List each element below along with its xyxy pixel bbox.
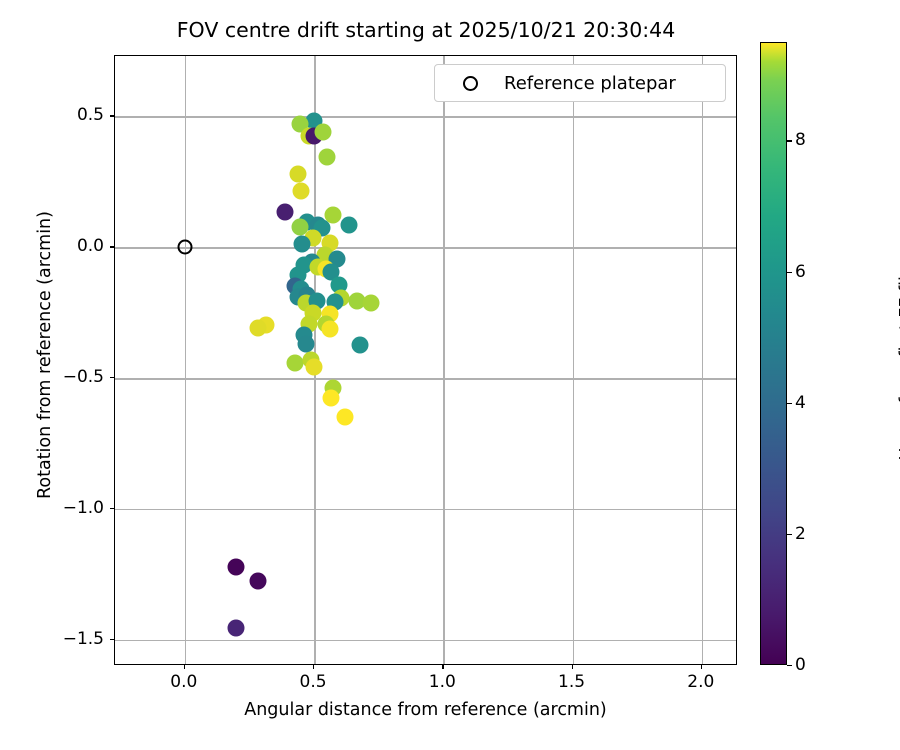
y-axis-tick-label: −1.5 — [63, 629, 104, 649]
y-axis-tick-label: −1.0 — [63, 498, 104, 518]
plot-axes — [114, 55, 737, 665]
scatter-point — [306, 359, 323, 376]
y-axis-tick — [110, 639, 114, 640]
y-axis-tick — [110, 246, 114, 247]
scatter-point — [227, 620, 244, 637]
colorbar-tick — [787, 665, 792, 666]
colorbar-tick — [787, 403, 792, 404]
colorbar-tick — [787, 272, 792, 273]
x-axis-tick-label: 1.5 — [558, 672, 585, 692]
colorbar-tick-label: 4 — [795, 393, 806, 413]
y-axis-tick-label: −0.5 — [63, 367, 104, 387]
x-axis-tick — [701, 665, 702, 669]
colorbar-tick-label: 6 — [795, 262, 806, 282]
legend-marker-reference-platepar-icon — [463, 76, 478, 91]
colorbar-tick — [787, 140, 792, 141]
colorbar-tick-label: 0 — [795, 655, 806, 675]
y-axis-tick — [110, 115, 114, 116]
scatter-point — [337, 409, 354, 426]
scatter-point — [314, 123, 331, 140]
x-axis-tick-label: 2.0 — [687, 672, 714, 692]
scatter-point — [249, 320, 266, 337]
reference-platepar-marker — [177, 240, 192, 255]
colorbar — [760, 42, 787, 665]
scatter-point — [276, 204, 293, 221]
x-axis-tick — [572, 665, 573, 669]
x-axis-tick-label: 0.0 — [170, 672, 197, 692]
legend-label: Reference platepar — [504, 73, 676, 94]
x-axis-tick — [184, 665, 185, 669]
scatter-point — [294, 235, 311, 252]
scatter-point — [286, 355, 303, 372]
scatter-point — [319, 148, 336, 165]
x-axis-tick-label: 1.0 — [429, 672, 456, 692]
gridline-vertical — [573, 56, 575, 664]
y-axis-label: Rotation from reference (arcmin) — [35, 135, 55, 575]
scatter-point — [249, 572, 266, 589]
colorbar-tick-label: 2 — [795, 524, 806, 544]
y-axis-tick — [110, 508, 114, 509]
scatter-point — [324, 207, 341, 224]
y-axis-tick-label: 0.5 — [77, 105, 104, 125]
gridline-horizontal — [115, 247, 736, 249]
gridline-horizontal — [115, 116, 736, 118]
x-axis-tick — [442, 665, 443, 669]
figure-canvas: FOV centre drift starting at 2025/10/21 … — [0, 0, 900, 750]
scatter-point — [289, 166, 306, 183]
gridline-horizontal — [115, 509, 736, 511]
x-axis-label: Angular distance from reference (arcmin) — [114, 700, 737, 720]
gridline-vertical — [185, 56, 187, 664]
colorbar-tick — [787, 534, 792, 535]
gridline-horizontal — [115, 640, 736, 642]
scatter-point — [351, 337, 368, 354]
scatter-point — [363, 295, 380, 312]
scatter-point — [321, 320, 338, 337]
scatter-point — [323, 390, 340, 407]
y-axis-tick — [110, 377, 114, 378]
legend[interactable]: Reference platepar — [434, 64, 726, 102]
gridline-vertical — [443, 56, 445, 664]
x-axis-tick — [313, 665, 314, 669]
scatter-point — [228, 558, 245, 575]
scatter-point — [298, 335, 315, 352]
y-axis-tick-label: 0.0 — [77, 236, 104, 256]
scatter-point — [340, 217, 357, 234]
gridline-horizontal — [115, 378, 736, 380]
page-title: FOV centre drift starting at 2025/10/21 … — [114, 18, 738, 42]
gridline-vertical — [702, 56, 704, 664]
scatter-point — [293, 182, 310, 199]
colorbar-tick-label: 8 — [795, 130, 806, 150]
x-axis-tick-label: 0.5 — [300, 672, 327, 692]
